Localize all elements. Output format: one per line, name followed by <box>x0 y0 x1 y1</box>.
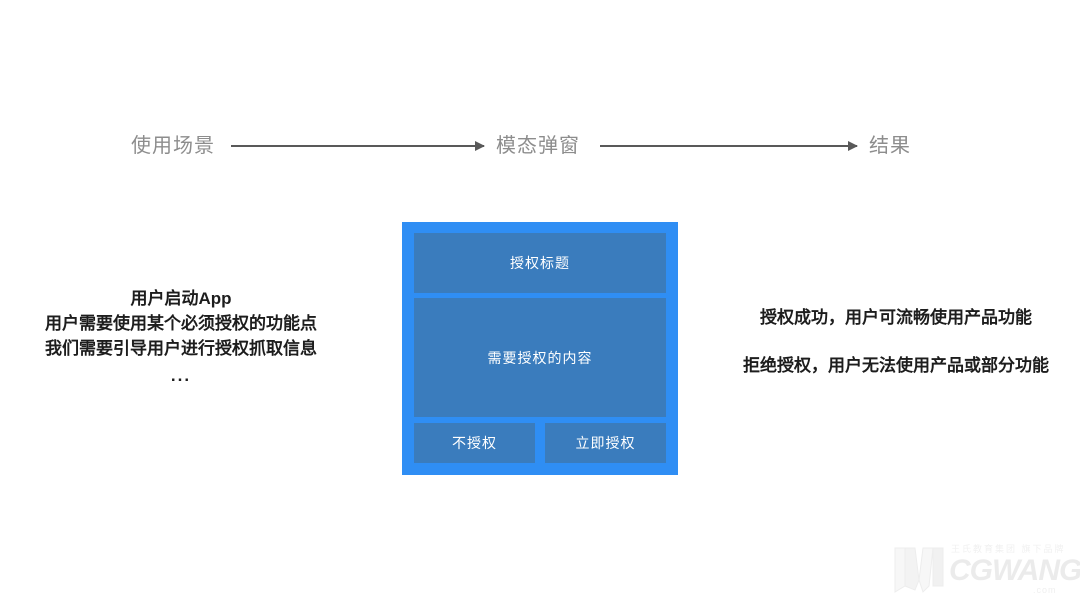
flow-header: 使用场景 模态弹窗 结果 <box>0 126 1080 166</box>
deny-button-label: 不授权 <box>452 433 497 453</box>
modal-title-text: 授权标题 <box>510 253 570 273</box>
cgwang-w-logo-icon <box>893 546 945 594</box>
watermark-domain: .com <box>1033 585 1057 595</box>
authorize-now-button-label: 立即授权 <box>576 433 636 453</box>
arrow-head <box>475 141 485 151</box>
flow-step-label-result: 结果 <box>869 126 911 166</box>
flow-step-label-modal: 模态弹窗 <box>496 126 580 166</box>
watermark: 王氏教育集团 旗下品牌 CGWANG .com <box>893 540 1071 602</box>
authorize-now-button[interactable]: 立即授权 <box>545 423 666 463</box>
scene-description-block: 用户启动App 用户需要使用某个必须授权的功能点 我们需要引导用户进行授权抓取信… <box>20 286 342 388</box>
scene-line-need: 用户需要使用某个必须授权的功能点 <box>20 311 342 336</box>
scene-line-ellipsis: ... <box>20 361 342 388</box>
modal-button-row: 不授权 立即授权 <box>414 423 666 463</box>
modal-content-text: 需要授权的内容 <box>488 348 593 368</box>
watermark-wordmark: CGWANG <box>949 556 1080 586</box>
arrow-shaft <box>600 145 857 147</box>
modal-content-panel: 需要授权的内容 <box>414 298 666 417</box>
result-description-block: 授权成功，用户可流畅使用产品功能 拒绝授权，用户无法使用产品或部分功能 <box>724 306 1068 378</box>
scene-line-guide: 我们需要引导用户进行授权抓取信息 <box>20 336 342 361</box>
flow-arrow-right-icon-1 <box>231 145 484 147</box>
deny-button[interactable]: 不授权 <box>414 423 535 463</box>
result-line-success: 授权成功，用户可流畅使用产品功能 <box>724 306 1068 330</box>
modal-title-panel: 授权标题 <box>414 233 666 293</box>
scene-line-title: 用户启动App <box>20 286 342 311</box>
modal-dialog-mock: 授权标题 需要授权的内容 不授权 立即授权 <box>402 222 678 475</box>
flow-arrow-right-icon-2 <box>600 145 857 147</box>
arrow-shaft <box>231 145 484 147</box>
flow-step-label-scene: 使用场景 <box>131 126 215 166</box>
arrow-head <box>848 141 858 151</box>
result-line-reject: 拒绝授权，用户无法使用产品或部分功能 <box>724 354 1068 378</box>
diagram-canvas: 使用场景 模态弹窗 结果 用户启动App 用户需要使用某个必须授权的功能点 我们… <box>0 0 1080 608</box>
